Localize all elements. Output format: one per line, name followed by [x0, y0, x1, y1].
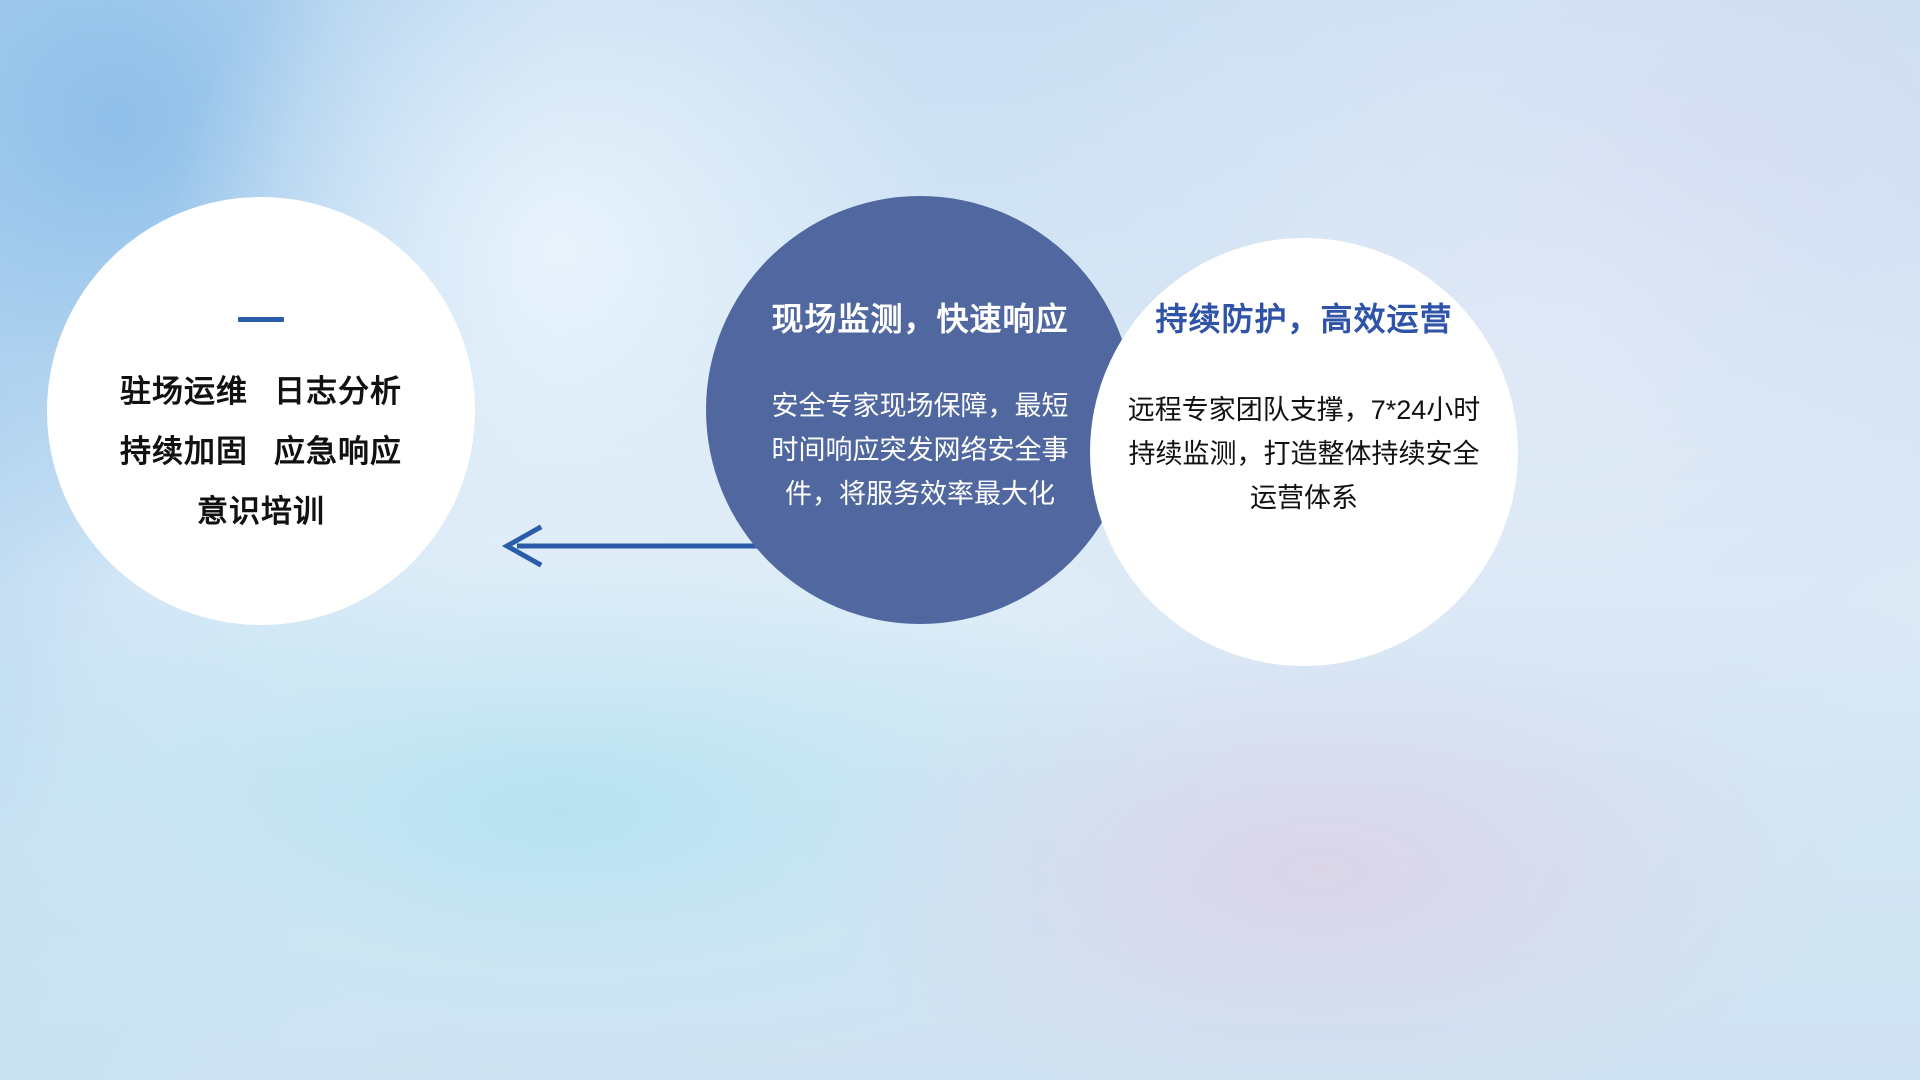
- keyword-row-1: 驻场运维日志分析: [120, 362, 402, 422]
- keyword-driver-ops: 驻场运维: [120, 374, 248, 409]
- keyword-row-3: 意识培训: [120, 482, 402, 542]
- divider-line-icon: [238, 317, 284, 322]
- middle-circle-title: 现场监测，快速响应: [771, 294, 1068, 340]
- keyword-row-2: 持续加固应急响应: [120, 422, 402, 482]
- middle-circle-body: 安全专家现场保障，最短时间响应突发网络安全事件，将服务效率最大化: [766, 384, 1074, 516]
- right-circle-title: 持续防护，高效运营: [1155, 294, 1452, 340]
- right-circle-body: 远程专家团队支撑，7*24小时持续监测，打造整体持续安全运营体系: [1124, 388, 1484, 520]
- left-keywords-circle[interactable]: 驻场运维日志分析 持续加固应急响应 意识培训: [47, 197, 475, 625]
- keyword-awareness-training: 意识培训: [197, 494, 325, 529]
- middle-onsite-monitoring-circle[interactable]: 现场监测，快速响应 安全专家现场保障，最短时间响应突发网络安全事件，将服务效率最…: [706, 196, 1134, 624]
- right-continuous-protection-circle[interactable]: 持续防护，高效运营 远程专家团队支撑，7*24小时持续监测，打造整体持续安全运营…: [1090, 238, 1518, 666]
- slide-canvas: 驻场运维日志分析 持续加固应急响应 意识培训 现场监测，快速响应 安全专家现场保…: [0, 0, 1920, 1080]
- keyword-emergency-response: 应急响应: [274, 434, 402, 469]
- left-keyword-list: 驻场运维日志分析 持续加固应急响应 意识培训: [120, 362, 402, 542]
- keyword-continuous-hardening: 持续加固: [120, 434, 248, 469]
- keyword-log-analysis: 日志分析: [274, 374, 402, 409]
